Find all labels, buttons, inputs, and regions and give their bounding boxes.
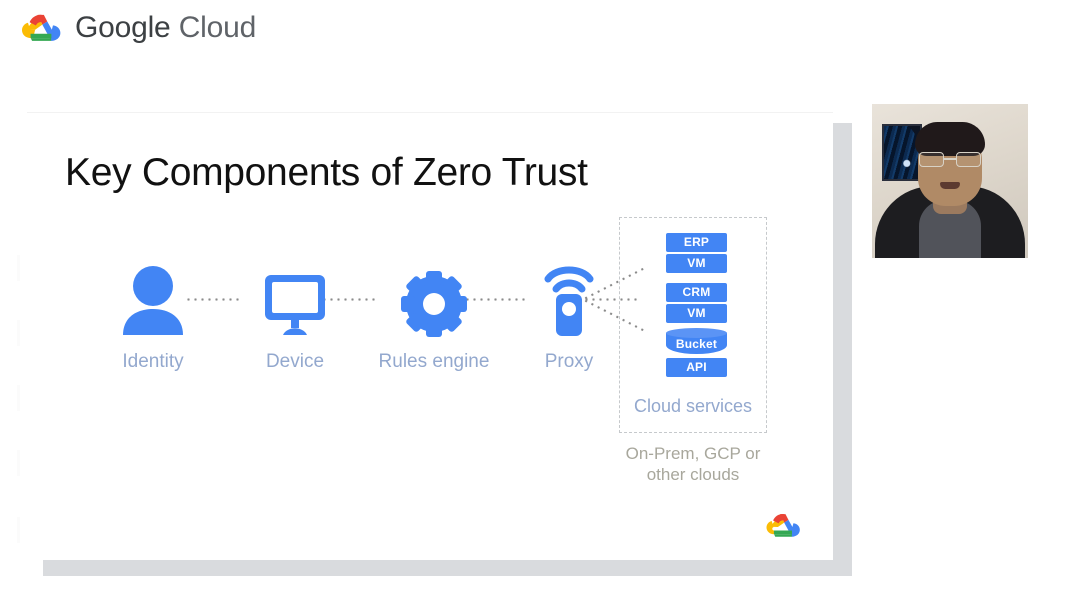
proxy-icon-wrap — [509, 251, 629, 337]
component-proxy[interactable]: Proxy — [509, 251, 629, 373]
service-chip-api[interactable]: API — [666, 358, 727, 377]
presenter-glasses — [919, 152, 981, 167]
component-rules-engine[interactable]: Rules engine — [364, 251, 504, 373]
presentation-slide: Key Components of Zero Trust Identity — [27, 112, 833, 560]
gear-icon — [401, 271, 467, 337]
onprem-caption: On-Prem, GCP or other clouds — [587, 443, 799, 485]
service-chip-vm-2[interactable]: VM — [666, 304, 727, 323]
onprem-caption-line1: On-Prem, GCP or — [587, 443, 799, 464]
service-chip-vm-1[interactable]: VM — [666, 254, 727, 273]
service-chip-bucket[interactable]: Bucket — [666, 333, 727, 354]
service-chip-bucket-label: Bucket — [676, 337, 717, 351]
cloud-services-caption: Cloud services — [620, 396, 766, 417]
brand-cloud: Cloud — [179, 11, 256, 44]
person-icon — [122, 263, 184, 337]
service-chip-erp[interactable]: ERP — [666, 233, 727, 252]
device-icon-wrap — [235, 251, 355, 337]
component-label: Proxy — [509, 351, 629, 373]
component-identity[interactable]: Identity — [93, 251, 213, 373]
service-chip-stack: ERP VM CRM VM Bucket API — [666, 233, 727, 379]
cloud-services-box: ERP VM CRM VM Bucket API Cloud services — [619, 217, 767, 433]
component-label: Rules engine — [364, 351, 504, 373]
component-device[interactable]: Device — [235, 251, 355, 373]
google-cloud-logo-icon — [18, 9, 64, 47]
component-label: Identity — [93, 351, 213, 373]
wall-artwork — [882, 124, 922, 181]
google-cloud-header: Google Cloud — [18, 0, 256, 56]
edge-artifact — [17, 255, 20, 545]
screen: Google Cloud Key Components of Zero Trus… — [0, 0, 1091, 598]
brand-google: Google — [75, 11, 171, 44]
presenter-video-feed[interactable] — [872, 104, 1028, 258]
monitor-icon — [263, 271, 327, 337]
service-chip-crm[interactable]: CRM — [666, 283, 727, 302]
presenter-mouth — [940, 182, 960, 189]
proxy-wifi-icon — [544, 261, 594, 337]
rules-icon-wrap — [364, 251, 504, 337]
presenter-hair — [915, 122, 985, 156]
google-cloud-mark-icon — [763, 509, 803, 542]
component-label: Device — [235, 351, 355, 373]
onprem-caption-line2: other clouds — [587, 464, 799, 485]
page-title: Key Components of Zero Trust — [65, 151, 588, 195]
identity-icon-wrap — [93, 251, 213, 337]
brand-wordmark: Google Cloud — [75, 11, 256, 45]
